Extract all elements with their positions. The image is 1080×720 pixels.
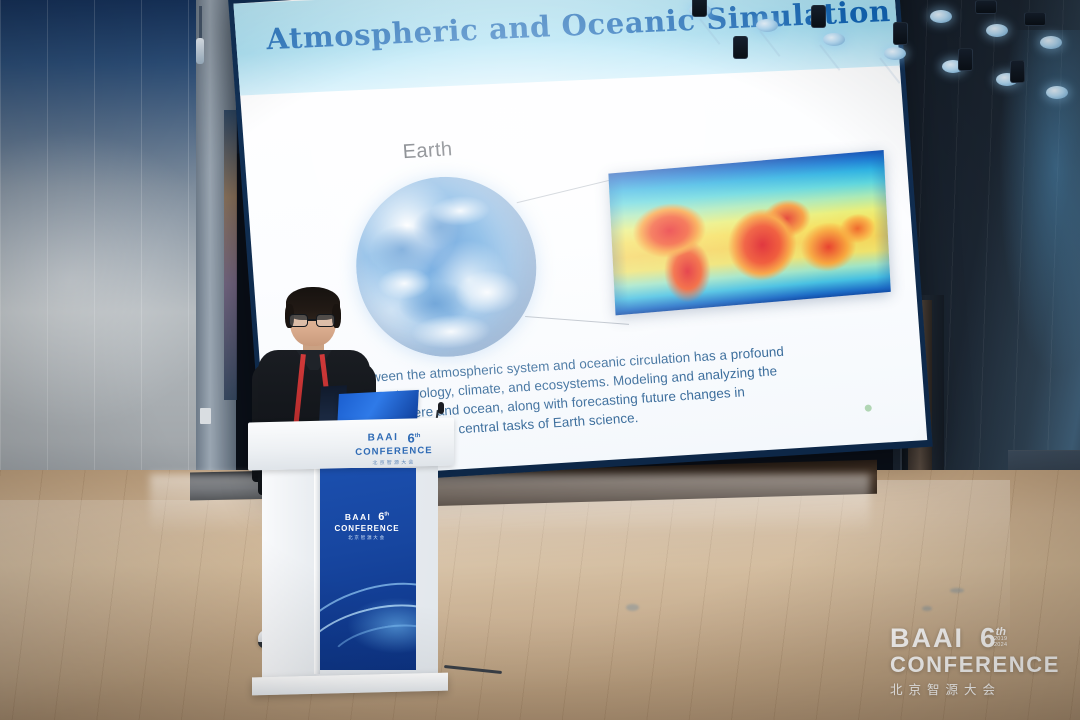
watermark-brand: BAAI (890, 625, 964, 652)
watermark-chinese: 北京智源大会 (890, 679, 1060, 698)
stage-light (823, 33, 845, 46)
light-fixture (1010, 60, 1025, 83)
floor-mark (626, 604, 639, 611)
podium-top-logo: BAAI 6th CONFERENCE 北京智源大会 (344, 431, 444, 467)
watermark-subtitle: CONFERENCE (890, 653, 1060, 676)
wall-light-arm (199, 6, 202, 40)
wall-switch[interactable] (200, 408, 211, 424)
floor-mark (922, 606, 932, 611)
pillar-reflection-strip (224, 110, 237, 400)
callout-line-bottom (525, 316, 629, 325)
global-temperature-heatmap (608, 150, 890, 315)
glasses-lens-left (289, 314, 308, 327)
conference-label-cn: 北京智源大会 (330, 535, 404, 541)
light-fixture (692, 0, 707, 17)
conference-label: CONFERENCE (330, 524, 404, 533)
glasses-lens-right (316, 314, 335, 327)
podium: BAAI 6th CONFERENCE 北京智源大会 BAAI 6th CONF… (248, 420, 454, 690)
podium-left-face (262, 464, 316, 680)
watermark-logo: BAAI 6 th 20192024 CONFERENCE 北京智源大会 (890, 625, 1060, 698)
light-fixture (811, 5, 826, 28)
light-fixture (893, 22, 908, 45)
watermark-edition: 6 th 20192024 (980, 625, 1007, 650)
floor-mark (950, 588, 964, 593)
light-fixture (975, 0, 997, 14)
podium-edge (314, 466, 320, 674)
podium-front-panel: BAAI 6th CONFERENCE 北京智源大会 (318, 468, 416, 670)
callout-line-top (517, 178, 618, 203)
stage-light (1040, 36, 1062, 49)
edition-number: 6th (407, 431, 420, 444)
heatmap-edge (608, 150, 890, 315)
stage-light (884, 47, 906, 60)
stage-light (1046, 86, 1068, 99)
stage-light (986, 24, 1008, 37)
microphone-icon (438, 402, 444, 414)
conference-stage-scene: Atmospheric and Oceanic Simulation Earth… (0, 0, 1080, 720)
podium-panel-logo: BAAI 6th CONFERENCE 北京智源大会 (330, 512, 404, 541)
watermark-years: 20192024 (994, 636, 1007, 649)
glasses-icon (289, 314, 337, 327)
conference-label: CONFERENCE (344, 445, 444, 458)
light-fixture (958, 48, 973, 71)
stage-light (930, 10, 952, 23)
brand-name: BAAI (345, 512, 371, 522)
light-fixture (733, 36, 748, 59)
globe-cloud (429, 194, 491, 228)
brand-name: BAAI (368, 432, 399, 444)
earth-label: Earth (402, 138, 453, 164)
edition-number: 6th (378, 512, 389, 523)
light-fixture (1024, 12, 1046, 26)
glasses-bridge (308, 319, 316, 321)
wall-spotlight (196, 38, 204, 64)
